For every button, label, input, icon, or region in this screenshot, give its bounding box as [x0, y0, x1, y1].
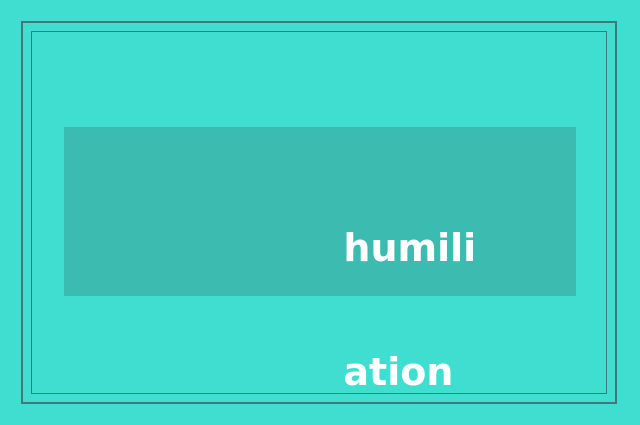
image-canvas: humili ation — [0, 0, 640, 425]
text-panel: humili ation — [64, 127, 576, 296]
panel-text-block: humili ation — [264, 155, 476, 425]
panel-text-line-1: humili — [343, 226, 476, 270]
panel-text-line-2: ation — [343, 350, 453, 394]
